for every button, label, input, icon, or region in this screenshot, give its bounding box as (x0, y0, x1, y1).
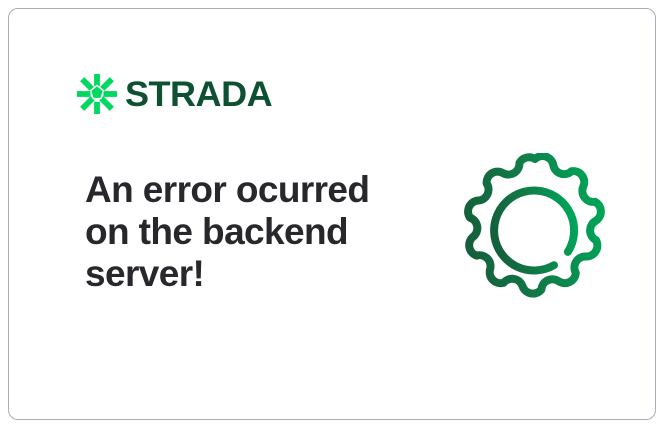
error-card: STRADA An error ocurred on the backend s… (8, 8, 656, 420)
error-message-headline: An error ocurred on the backend server! (85, 169, 375, 295)
brand-wordmark: STRADA (125, 77, 272, 112)
gear-illustration (453, 153, 617, 313)
strada-asterisk-icon (77, 74, 117, 114)
brand-logo: STRADA (77, 71, 268, 117)
